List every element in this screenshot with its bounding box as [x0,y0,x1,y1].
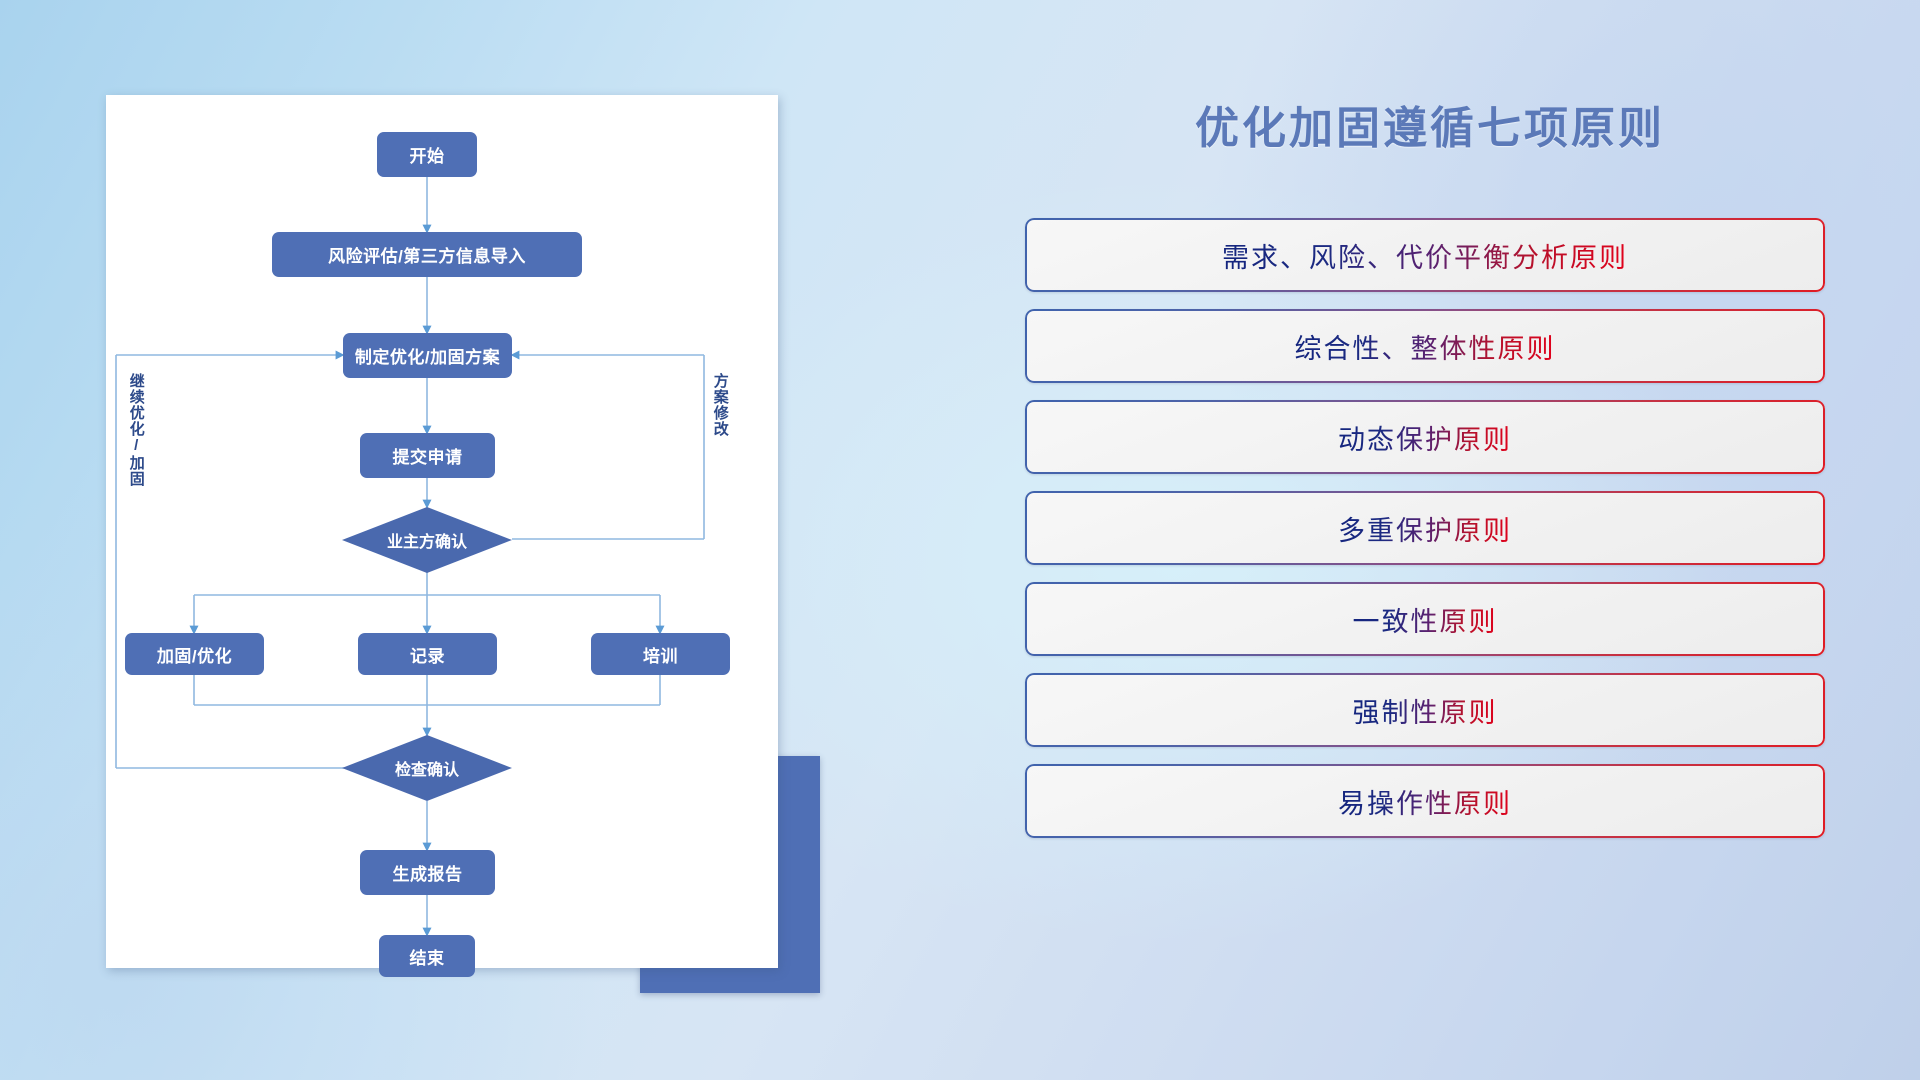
flow-edge-label-plan-revision: 方案修改 [712,373,728,437]
principle-card[interactable]: 综合性、整体性原则 [1025,309,1825,383]
flow-decision-inspect-confirm[interactable]: 检查确认 [342,735,512,801]
principle-label: 强制性原则 [1353,691,1498,730]
flow-node-label: 风险评估/第三方信息导入 [328,242,526,267]
flow-node-label: 培训 [643,642,678,667]
flow-edge-label-continue-optimize: 继续优化/加固 [128,373,144,487]
flow-node-end[interactable]: 结束 [379,935,475,977]
principle-card[interactable]: 动态保护原则 [1025,400,1825,474]
principle-card[interactable]: 一致性原则 [1025,582,1825,656]
flow-node-label: 加固/优化 [157,642,232,667]
flow-node-label: 提交申请 [393,443,463,468]
principle-label: 动态保护原则 [1338,418,1512,457]
principle-card[interactable]: 强制性原则 [1025,673,1825,747]
principle-label: 综合性、整体性原则 [1295,327,1556,366]
flow-node-record[interactable]: 记录 [358,633,497,675]
flow-node-reinforce-optimize[interactable]: 加固/优化 [125,633,264,675]
flow-node-submit-application[interactable]: 提交申请 [360,433,495,478]
principle-label: 易操作性原则 [1338,782,1512,821]
principle-card[interactable]: 多重保护原则 [1025,491,1825,565]
flow-node-label: 生成报告 [393,860,463,885]
flow-node-risk-assessment[interactable]: 风险评估/第三方信息导入 [272,232,582,277]
principle-card[interactable]: 易操作性原则 [1025,764,1825,838]
principle-card[interactable]: 需求、风险、代价平衡分析原则 [1025,218,1825,292]
flow-node-label: 检查确认 [395,756,459,780]
flow-node-make-plan[interactable]: 制定优化/加固方案 [343,333,512,378]
principles-list: 需求、风险、代价平衡分析原则 综合性、整体性原则 动态保护原则 多重保护原则 一… [1025,218,1825,855]
flow-node-label: 制定优化/加固方案 [355,343,500,368]
flow-node-label: 开始 [410,142,445,167]
slide-canvas: 开始 风险评估/第三方信息导入 制定优化/加固方案 提交申请 业主方确认 加固/… [0,0,1920,1080]
principles-panel: 优化加固遵循七项原则 需求、风险、代价平衡分析原则 综合性、整体性原则 动态保护… [1020,92,1840,1022]
flow-node-label: 记录 [410,642,445,667]
principles-title: 优化加固遵循七项原则 [1020,92,1840,156]
flow-node-label: 业主方确认 [387,528,467,552]
flow-node-generate-report[interactable]: 生成报告 [360,850,495,895]
flow-node-training[interactable]: 培训 [591,633,730,675]
flow-node-label: 结束 [410,944,445,969]
principle-label: 多重保护原则 [1338,509,1512,548]
principle-label: 一致性原则 [1353,600,1498,639]
flowchart-card: 开始 风险评估/第三方信息导入 制定优化/加固方案 提交申请 业主方确认 加固/… [106,95,778,968]
flow-decision-owner-confirm[interactable]: 业主方确认 [342,507,512,573]
principle-label: 需求、风险、代价平衡分析原则 [1222,236,1628,275]
flow-node-start[interactable]: 开始 [377,132,477,177]
